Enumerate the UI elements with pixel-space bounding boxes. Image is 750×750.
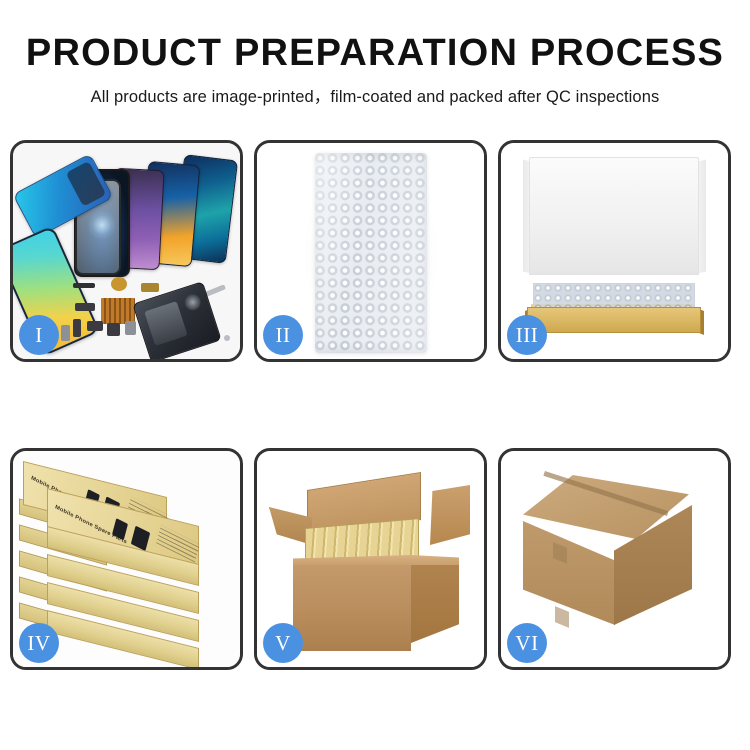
flex-cable-part-icon <box>73 283 95 288</box>
carton-front-face <box>293 565 411 651</box>
step-panel-2: II <box>254 140 487 362</box>
bubble-wrap-sheet-icon <box>315 153 427 353</box>
step-panel-6: VI <box>498 448 731 670</box>
side-frame-part-icon <box>73 319 81 337</box>
header: PRODUCT PREPARATION PROCESS All products… <box>0 0 750 107</box>
carton-tape-patch-bottom <box>555 606 569 628</box>
step-badge-1: I <box>19 315 59 355</box>
step-badge-5: V <box>263 623 303 663</box>
step-panel-4: Mobile Phone Spare Parts Mobile Phone Sp… <box>10 448 243 670</box>
speaker-coil-part-icon <box>111 277 127 291</box>
small-bracket-part-icon <box>61 325 70 341</box>
step-badge-6: VI <box>507 623 547 663</box>
page-subtitle: All products are image-printed，film-coat… <box>0 72 750 107</box>
page-title: PRODUCT PREPARATION PROCESS <box>0 0 750 72</box>
step-badge-3: III <box>507 315 547 355</box>
sim-tray-part-icon <box>125 321 136 335</box>
carton-left-face <box>523 521 615 625</box>
box-tray-front <box>527 307 701 333</box>
step-panel-5: V <box>254 448 487 670</box>
step-panel-1: I <box>10 140 243 362</box>
product-preparation-infographic: PRODUCT PREPARATION PROCESS All products… <box>0 0 750 750</box>
camera-module-part-icon <box>87 321 103 331</box>
step-badge-2: II <box>263 315 303 355</box>
carton-right-flap <box>430 485 470 545</box>
button-flex-part-icon <box>75 303 95 311</box>
step-panel-3: III <box>498 140 731 362</box>
bracket-part-icon <box>141 283 159 292</box>
carton-side-face <box>411 565 459 643</box>
vibrator-part-icon <box>107 323 120 336</box>
process-steps-grid: I II <box>10 140 742 684</box>
step-badge-4: IV <box>19 623 59 663</box>
box-lid-back-panel <box>529 157 699 275</box>
screw-part-icon <box>224 335 230 341</box>
